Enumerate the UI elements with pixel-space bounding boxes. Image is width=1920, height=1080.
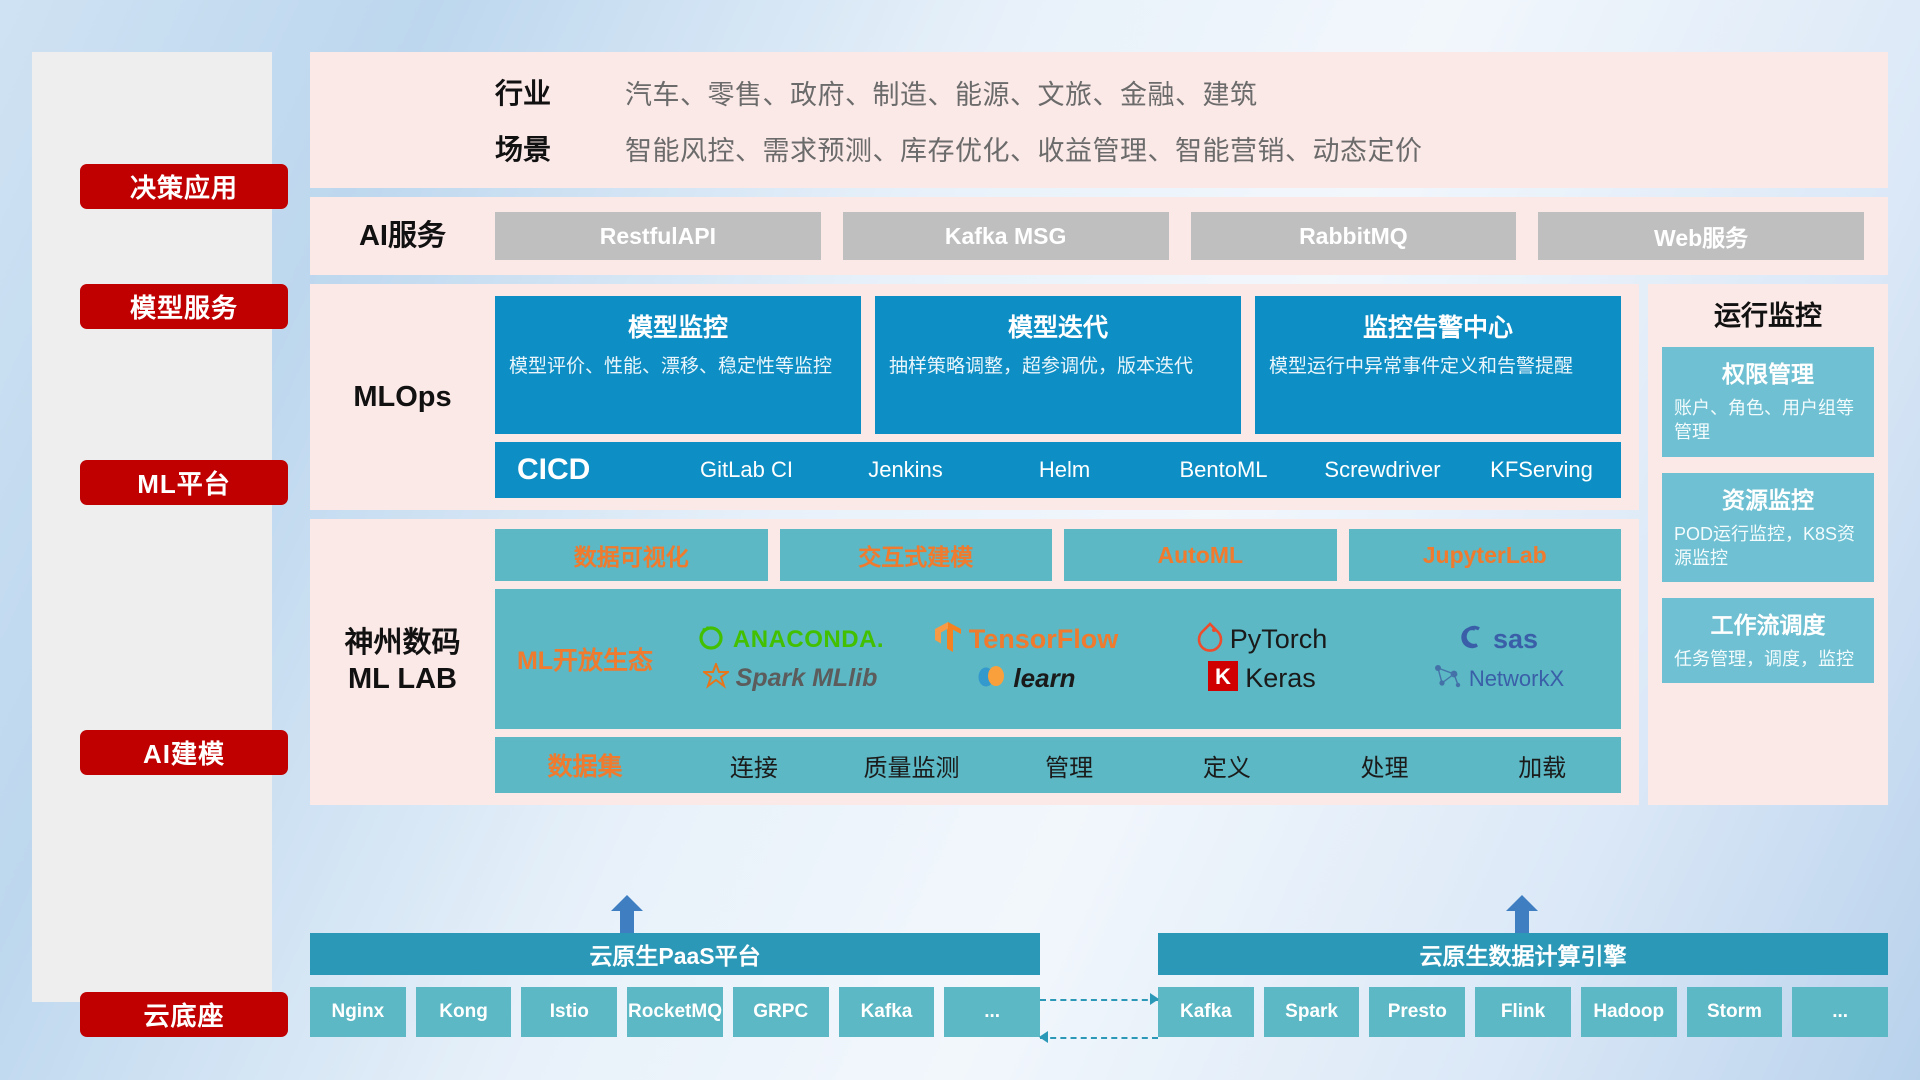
engine-chip-flink[interactable]: Flink: [1475, 987, 1571, 1037]
logo-networkx: NetworkX: [1432, 661, 1564, 696]
ai-service-chip-restfulapi[interactable]: RestfulAPI: [495, 212, 821, 260]
scenario-value: 智能风控、需求预测、库存优化、收益管理、智能营销、动态定价: [625, 129, 1423, 168]
sas-icon: [1458, 623, 1486, 656]
spark-icon: [703, 663, 729, 694]
ai-service-label: AI服务: [310, 218, 495, 254]
monitor-card-desc: POD运行监控，K8S资源监控: [1674, 522, 1862, 571]
rail-tag-model-service[interactable]: 模型服务: [80, 284, 288, 329]
arrow-up-paas-icon: [610, 895, 644, 929]
logo-spark-mllib: Spark MLlib: [703, 663, 878, 694]
logo-anaconda: ANACONDA.: [696, 622, 884, 657]
monitor-card-workflow[interactable]: 工作流调度 任务管理，调度，监控: [1662, 598, 1874, 683]
monitor-card-title: 工作流调度: [1674, 606, 1862, 640]
svg-text:K: K: [1215, 664, 1231, 689]
rail-tag-label: 模型服务: [130, 288, 238, 325]
dataset-label: 数据集: [495, 747, 675, 783]
logo-sas: sas: [1458, 623, 1538, 656]
mlops-card-title: 模型迭代: [889, 308, 1227, 344]
mlops-band: MLOps 模型监控 模型评价、性能、漂移、稳定性等监控 模型迭代 抽样策略调整…: [310, 284, 1639, 510]
main-column: 行业 汽车、零售、政府、制造、能源、文旅、金融、建筑 场景 智能风控、需求预测、…: [310, 52, 1888, 814]
tensorflow-icon: [934, 621, 962, 658]
ml-ecosystem-strip: ML开放生态 ANACONDA.: [495, 589, 1621, 729]
monitor-card-title: 资源监控: [1674, 481, 1862, 515]
cloud-base-section: 云原生PaaS平台 Nginx Kong Istio RocketMQ GRPC…: [310, 895, 1888, 1055]
rail-tag-cloud-base[interactable]: 云底座: [80, 992, 288, 1037]
monitor-card-permission[interactable]: 权限管理 账户、角色、用户组等管理: [1662, 347, 1874, 457]
paas-chip-istio[interactable]: Istio: [521, 987, 617, 1037]
industry-scenario-list: 行业 汽车、零售、政府、制造、能源、文旅、金融、建筑 场景 智能风控、需求预测、…: [495, 72, 1888, 168]
logo-tensorflow: TensorFlow: [934, 621, 1119, 658]
cicd-item-helm[interactable]: Helm: [985, 457, 1144, 482]
engine-chip-kafka[interactable]: Kafka: [1158, 987, 1254, 1037]
mlops-label: MLOps: [310, 296, 495, 498]
ml-ecosystem-label: ML开放生态: [495, 641, 675, 677]
mlops-card-title: 监控告警中心: [1269, 308, 1607, 344]
engine-chip-more[interactable]: ...: [1792, 987, 1888, 1037]
rail-tag-ml-platform[interactable]: ML平台: [80, 460, 288, 505]
logo-spark-label: Spark MLlib: [736, 664, 878, 693]
architecture-diagram: 决策应用 模型服务 ML平台 AI建模 云底座 行业 汽车、零售、政府、制造、能…: [0, 0, 1920, 1080]
ml-lab-band: 神州数码 ML LAB 数据可视化 交互式建模 AutoML JupyterLa…: [310, 519, 1639, 805]
ai-service-band: AI服务 RestfulAPI Kafka MSG RabbitMQ Web服务: [310, 197, 1888, 275]
ml-lab-label-line1: 神州数码: [344, 627, 460, 659]
industry-key: 行业: [495, 72, 625, 112]
mlops-card-list: 模型监控 模型评价、性能、漂移、稳定性等监控 模型迭代 抽样策略调整，超参调优，…: [495, 296, 1621, 434]
engine-chip-presto[interactable]: Presto: [1369, 987, 1465, 1037]
paas-chip-grpc[interactable]: GRPC: [733, 987, 829, 1037]
lab-tool-interactive-modeling[interactable]: 交互式建模: [780, 529, 1053, 581]
paas-chip-kafka[interactable]: Kafka: [839, 987, 935, 1037]
layer-rail: 决策应用 模型服务 ML平台 AI建模 云底座: [32, 52, 272, 1002]
mlops-card-model-monitoring[interactable]: 模型监控 模型评价、性能、漂移、稳定性等监控: [495, 296, 861, 434]
monitor-card-desc: 账户、角色、用户组等管理: [1674, 396, 1862, 445]
cicd-item-bentoml[interactable]: BentoML: [1144, 457, 1303, 482]
cicd-item-kfserving[interactable]: KFServing: [1462, 457, 1621, 482]
dashed-line-right: [1040, 999, 1158, 1001]
pytorch-icon: [1197, 622, 1223, 657]
dashed-arrow-left-icon: [1039, 1031, 1048, 1043]
cicd-item-screwdriver[interactable]: Screwdriver: [1303, 457, 1462, 482]
ai-service-chip-rabbitmq[interactable]: RabbitMQ: [1191, 212, 1517, 260]
mlops-card-alert-center[interactable]: 监控告警中心 模型运行中异常事件定义和告警提醒: [1255, 296, 1621, 434]
rail-tag-ai-modeling[interactable]: AI建模: [80, 730, 288, 775]
industry-row: 行业 汽车、零售、政府、制造、能源、文旅、金融、建筑: [495, 72, 1864, 112]
engine-column: 云原生数据计算引擎 Kafka Spark Presto Flink Hadoo…: [1158, 933, 1888, 1037]
ml-lab-label-line2: ML LAB: [348, 663, 457, 695]
lab-tool-jupyterlab[interactable]: JupyterLab: [1349, 529, 1622, 581]
decision-app-band-spacer: [310, 72, 495, 168]
dataset-item-connect[interactable]: 连接: [675, 748, 833, 783]
logo-sas-label: sas: [1493, 624, 1538, 655]
runtime-monitor-title: 运行监控: [1662, 294, 1874, 333]
monitor-card-desc: 任务管理，调度，监控: [1674, 647, 1862, 671]
mlops-card-desc: 模型运行中异常事件定义和告警提醒: [1269, 354, 1607, 380]
dataset-strip: 数据集 连接 质量监测 管理 定义 处理 加载: [495, 737, 1621, 793]
paas-engine-link: [1040, 933, 1158, 1037]
engine-chip-hadoop[interactable]: Hadoop: [1581, 987, 1677, 1037]
paas-column: 云原生PaaS平台 Nginx Kong Istio RocketMQ GRPC…: [310, 933, 1040, 1037]
mlops-card-title: 模型监控: [509, 308, 847, 344]
rail-tag-label: 决策应用: [130, 168, 238, 205]
ai-service-chip-kafka-msg[interactable]: Kafka MSG: [843, 212, 1169, 260]
ai-service-chip-web-service[interactable]: Web服务: [1538, 212, 1864, 260]
logo-networkx-label: NetworkX: [1469, 666, 1564, 692]
lab-tool-list: 数据可视化 交互式建模 AutoML JupyterLab: [495, 529, 1621, 581]
rail-tag-label: ML平台: [137, 464, 231, 501]
paas-chip-rocketmq[interactable]: RocketMQ: [627, 987, 723, 1037]
mlops-content: 模型监控 模型评价、性能、漂移、稳定性等监控 模型迭代 抽样策略调整，超参调优，…: [495, 296, 1621, 498]
paas-title-bar: 云原生PaaS平台: [310, 933, 1040, 975]
ml-ecosystem-logo-grid: ANACONDA. TensorFlow: [675, 621, 1621, 697]
logo-scikit-learn: learn: [976, 661, 1075, 696]
lab-tool-automl[interactable]: AutoML: [1064, 529, 1337, 581]
paas-chip-nginx[interactable]: Nginx: [310, 987, 406, 1037]
cicd-item-list: GitLab CI Jenkins Helm BentoML Screwdriv…: [667, 457, 1621, 482]
cicd-item-gitlab-ci[interactable]: GitLab CI: [667, 457, 826, 482]
mlops-card-model-iteration[interactable]: 模型迭代 抽样策略调整，超参调优，版本迭代: [875, 296, 1241, 434]
mlops-card-desc: 模型评价、性能、漂移、稳定性等监控: [509, 354, 847, 380]
keras-icon: K: [1208, 661, 1238, 696]
dataset-item-list: 连接 质量监测 管理 定义 处理 加载: [675, 748, 1621, 783]
dataset-item-load[interactable]: 加载: [1463, 748, 1621, 783]
engine-chip-storm[interactable]: Storm: [1687, 987, 1783, 1037]
dataset-item-process[interactable]: 处理: [1306, 748, 1464, 783]
logo-keras: K Keras: [1208, 661, 1316, 696]
paas-chip-list: Nginx Kong Istio RocketMQ GRPC Kafka ...: [310, 987, 1040, 1037]
ai-service-chip-list: RestfulAPI Kafka MSG RabbitMQ Web服务: [495, 212, 1888, 260]
logo-pytorch: PyTorch: [1197, 622, 1328, 657]
scikit-learn-icon: [976, 661, 1006, 696]
networkx-icon: [1432, 661, 1462, 696]
arrow-up-engine-icon: [1505, 895, 1539, 929]
cicd-item-jenkins[interactable]: Jenkins: [826, 457, 985, 482]
engine-title-bar: 云原生数据计算引擎: [1158, 933, 1888, 975]
platform-and-monitor-row: MLOps 模型监控 模型评价、性能、漂移、稳定性等监控 模型迭代 抽样策略调整…: [310, 284, 1888, 805]
dataset-item-define[interactable]: 定义: [1148, 748, 1306, 783]
dataset-item-quality-monitoring[interactable]: 质量监测: [833, 748, 991, 783]
scenario-row: 场景 智能风控、需求预测、库存优化、收益管理、智能营销、动态定价: [495, 128, 1864, 168]
logo-tensorflow-label: TensorFlow: [969, 624, 1119, 655]
cloud-base-columns: 云原生PaaS平台 Nginx Kong Istio RocketMQ GRPC…: [310, 933, 1888, 1037]
logo-scikit-learn-label: learn: [1013, 663, 1075, 694]
ml-lab-content: 数据可视化 交互式建模 AutoML JupyterLab ML开放生态: [495, 529, 1621, 793]
scenario-key: 场景: [495, 128, 625, 168]
cicd-title: CICD: [517, 453, 667, 487]
logo-pytorch-label: PyTorch: [1230, 624, 1328, 655]
runtime-monitor-panel: 运行监控 权限管理 账户、角色、用户组等管理 资源监控 POD运行监控，K8S资…: [1648, 284, 1888, 805]
engine-chip-list: Kafka Spark Presto Flink Hadoop Storm ..…: [1158, 987, 1888, 1037]
rail-tag-label: 云底座: [143, 996, 224, 1033]
logo-keras-label: Keras: [1245, 663, 1316, 694]
anaconda-icon: [696, 622, 726, 657]
rail-tag-decision-app[interactable]: 决策应用: [80, 164, 288, 209]
dataset-item-manage[interactable]: 管理: [990, 748, 1148, 783]
ml-lab-label: 神州数码 ML LAB: [310, 529, 495, 793]
industry-value: 汽车、零售、政府、制造、能源、文旅、金融、建筑: [625, 73, 1258, 112]
lab-tool-data-visualization[interactable]: 数据可视化: [495, 529, 768, 581]
logo-anaconda-label: ANACONDA.: [733, 626, 884, 654]
cicd-strip: CICD GitLab CI Jenkins Helm BentoML Scre…: [495, 442, 1621, 498]
monitor-card-resource[interactable]: 资源监控 POD运行监控，K8S资源监控: [1662, 473, 1874, 583]
decision-app-band: 行业 汽车、零售、政府、制造、能源、文旅、金融、建筑 场景 智能风控、需求预测、…: [310, 52, 1888, 188]
dashed-arrow-right-icon: [1150, 993, 1159, 1005]
paas-chip-more[interactable]: ...: [944, 987, 1040, 1037]
paas-chip-kong[interactable]: Kong: [416, 987, 512, 1037]
rail-tag-label: AI建模: [143, 734, 225, 771]
monitor-card-title: 权限管理: [1674, 355, 1862, 389]
engine-chip-spark[interactable]: Spark: [1264, 987, 1360, 1037]
dashed-line-left: [1040, 1037, 1158, 1039]
mlops-card-desc: 抽样策略调整，超参调优，版本迭代: [889, 354, 1227, 380]
